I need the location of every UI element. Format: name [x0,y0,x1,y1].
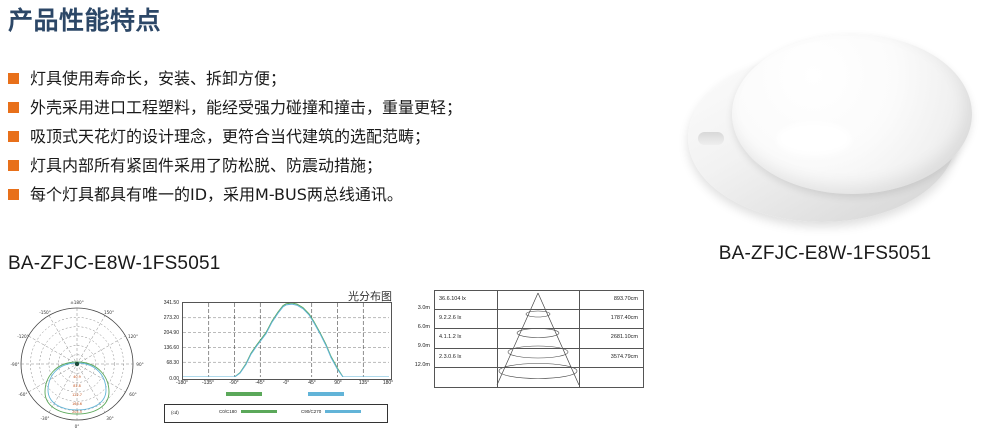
legend-label: C90/C270 [301,409,321,414]
legend-color-swatch [325,410,361,414]
beam-distance-label: 6.0m [404,324,430,330]
x-tick: 180° [383,380,393,386]
beam-distance-label: 12.0m [404,362,430,368]
lamp-diffuser-cover [732,34,972,194]
x-tick: 135° [359,380,369,386]
table-column-divider [497,291,498,387]
table-row: 4.1.1.2 lx 2681.10cm [435,329,643,348]
svg-text:0°: 0° [75,424,80,429]
diameter-value: 3574.79cm [611,354,638,360]
svg-text:163.6: 163.6 [72,402,82,406]
y-axis-labels: 0.00 68.30 136.60 204.90 273.20 341.50 [152,298,180,382]
svg-text:±180°: ±180° [70,300,84,305]
right-product-column: BA-ZFJC-E8W-1FS5051 [650,0,1000,433]
illuminance-value: 36.6.104 lx [439,296,466,302]
x-tick: -135° [202,380,214,386]
svg-text:30°: 30° [106,416,113,421]
polar-diagram: ±180° -150° 150° -120° 120° -90° 90° -60… [6,288,148,433]
illuminance-value: 9.2.2.6 lx [439,315,461,321]
svg-text:204.5: 204.5 [72,410,82,414]
legend-item-c90c270: C90/C270 [301,409,361,414]
diameter-value: 2681.10cm [611,334,638,340]
beam-table: 36.6.104 lx 893.70cm 9.2.2.6 lx 1787.40c… [434,290,644,388]
svg-text:40.9: 40.9 [73,375,81,379]
light-distribution-chart: 光分布图 0.00 68.30 136.60 204.90 273.20 341… [152,288,398,433]
y-tick: 341.50 [164,300,179,306]
svg-text:-30°: -30° [41,416,50,421]
chart-curves-svg [183,303,389,377]
table-row: 36.6.104 lx 893.70cm [435,291,643,310]
x-axis-labels: -180° -135° -90° -45° -0° 45° 90° 135° 1… [182,380,390,390]
x-tick: -45° [255,380,264,386]
table-row: 9.2.2.6 lx 1787.40cm [435,310,643,329]
list-item: 吸顶式天花灯的设计理念，更符合当代建筑的选配范畴； [8,126,628,148]
feature-list: 灯具使用寿命长，安装、拆卸方便； 外壳采用进口工程塑料，能经受强力碰撞和撞击，重… [8,68,628,213]
svg-text:-150°: -150° [39,310,51,315]
list-item: 每个灯具都具有唯一的ID，采用M-BUS两总线通讯。 [8,184,628,206]
legend-label: C0/C180 [219,409,237,414]
photometric-diagrams: ±180° -150° 150° -120° 120° -90° 90° -60… [6,288,646,433]
diameter-value: 1787.40cm [611,315,638,321]
list-item: 外壳采用进口工程塑料，能经受强力碰撞和撞击，重量更轻； [8,97,628,119]
feature-text: 吸顶式天花灯的设计理念，更符合当代建筑的选配范畴； [30,126,430,148]
diameter-value: 893.70cm [614,296,638,302]
table-row [435,368,643,387]
svg-text:81.8: 81.8 [73,384,81,388]
model-number-right: BA-ZFJC-E8W-1FS5051 [650,243,1000,265]
svg-text:122.7: 122.7 [72,393,82,397]
legend-unit-label: (cd) [171,410,179,415]
lamp-highlight [776,122,852,156]
model-number-left: BA-ZFJC-E8W-1FS5051 [8,253,221,275]
svg-text:150°: 150° [104,310,114,315]
feature-text: 外壳采用进口工程塑料，能经受强力碰撞和撞击，重量更轻； [30,97,462,119]
square-bullet-icon [8,102,19,113]
svg-text:120°: 120° [128,334,138,339]
illuminance-value: 2.3.0.6 lx [439,354,461,360]
beam-distance-label: 9.0m [404,343,430,349]
x-tick: -180° [176,380,188,386]
feature-text: 每个灯具都具有唯一的ID，采用M-BUS两总线通讯。 [30,184,403,206]
chart-legend: (cd) C0/C180 C90/C270 [164,404,388,423]
x-tick: -90° [229,380,238,386]
x-tick: -0° [283,380,289,386]
list-item: 灯具内部所有紧固件采用了防松脱、防震动措施； [8,155,628,177]
product-image [680,26,980,234]
legend-swatch-c0c180-top [226,392,262,396]
legend-swatch-c90c270-top [308,392,344,396]
y-tick: 273.20 [164,315,179,321]
svg-text:60°: 60° [129,392,136,397]
chart-plot-area [182,302,392,380]
square-bullet-icon [8,189,19,200]
square-bullet-icon [8,131,19,142]
svg-text:-60°: -60° [19,392,28,397]
beam-illuminance-diagram: 3.0m 6.0m 9.0m 12.0m 36.6.104 lx 893.70c… [404,290,646,390]
feature-text: 灯具内部所有紧固件采用了防松脱、防震动措施； [30,155,382,177]
product-spec-page: 产品性能特点 灯具使用寿命长，安装、拆卸方便； 外壳采用进口工程塑料，能经受强力… [0,0,1000,433]
feature-text: 灯具使用寿命长，安装、拆卸方便； [30,68,286,90]
svg-text:-90°: -90° [11,362,20,367]
y-tick: 136.60 [164,345,179,351]
legend-item-c0c180: C0/C180 [219,409,277,414]
y-tick: 204.90 [164,330,179,336]
svg-text:-120°: -120° [17,334,29,339]
page-title: 产品性能特点 [8,8,161,36]
svg-text:90°: 90° [136,362,143,367]
square-bullet-icon [8,160,19,171]
table-row: 2.3.0.6 lx 3574.79cm [435,349,643,368]
square-bullet-icon [8,73,19,84]
polar-diagram-svg: ±180° -150° 150° -120° 120° -90° 90° -60… [6,288,148,433]
x-tick: 45° [308,380,316,386]
list-item: 灯具使用寿命长，安装、拆卸方便； [8,68,628,90]
x-tick: 90° [334,380,342,386]
beam-distance-label: 3.0m [404,305,430,311]
y-tick: 68.30 [166,360,179,366]
legend-color-swatch [241,410,277,414]
table-column-divider [579,291,580,387]
lamp-cable-entry [698,132,724,145]
illuminance-value: 4.1.1.2 lx [439,334,461,340]
